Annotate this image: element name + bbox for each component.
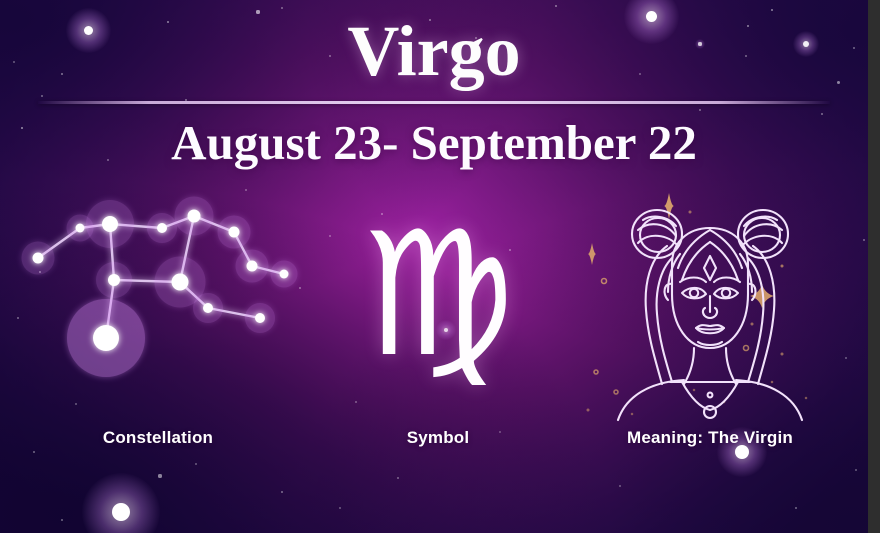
- star: [112, 503, 130, 521]
- sparkle-ring-icon: [602, 279, 607, 284]
- symbol-art: ♍: [316, 196, 560, 424]
- column-constellation: Constellation: [22, 196, 294, 466]
- column-meaning: Meaning: The Virgin: [574, 196, 846, 466]
- page-title: Virgo: [0, 8, 868, 94]
- constellation-star: [188, 210, 201, 223]
- star: [339, 507, 341, 509]
- constellation-star: [102, 216, 118, 232]
- constellation-star: [172, 274, 189, 291]
- column-symbol: ♍ Symbol: [316, 196, 560, 466]
- header-divider: [38, 101, 830, 104]
- star: [158, 474, 161, 477]
- sparkle-ring-icon: [594, 370, 598, 374]
- caption-meaning: Meaning: The Virgin: [574, 428, 846, 448]
- meaning-art: [574, 196, 846, 424]
- constellation-star: [33, 253, 44, 264]
- constellation-star: [203, 303, 213, 313]
- date-range: August 23- September 22: [0, 114, 868, 172]
- constellation-art: [22, 196, 294, 424]
- sparkle-dot-icon: [587, 409, 590, 412]
- virgo-glyph-icon: ♍: [316, 202, 560, 388]
- constellation-virgo-icon: [22, 196, 294, 396]
- zodiac-infographic-screen: Virgo August 23- September 22 Constellat…: [0, 0, 880, 533]
- constellation-star: [93, 325, 119, 351]
- constellation-star: [247, 261, 258, 272]
- sparkle-diamond-icon: [588, 243, 596, 265]
- constellation-star: [280, 270, 289, 279]
- constellation-star: [255, 313, 265, 323]
- constellation-star: [108, 274, 120, 286]
- right-edge-band: [868, 0, 880, 533]
- virgin-face-illustration-icon: [610, 198, 810, 424]
- constellation-star: [229, 227, 240, 238]
- caption-constellation: Constellation: [22, 428, 294, 448]
- caption-symbol: Symbol: [316, 428, 560, 448]
- constellation-star: [76, 224, 85, 233]
- constellation-star: [157, 223, 167, 233]
